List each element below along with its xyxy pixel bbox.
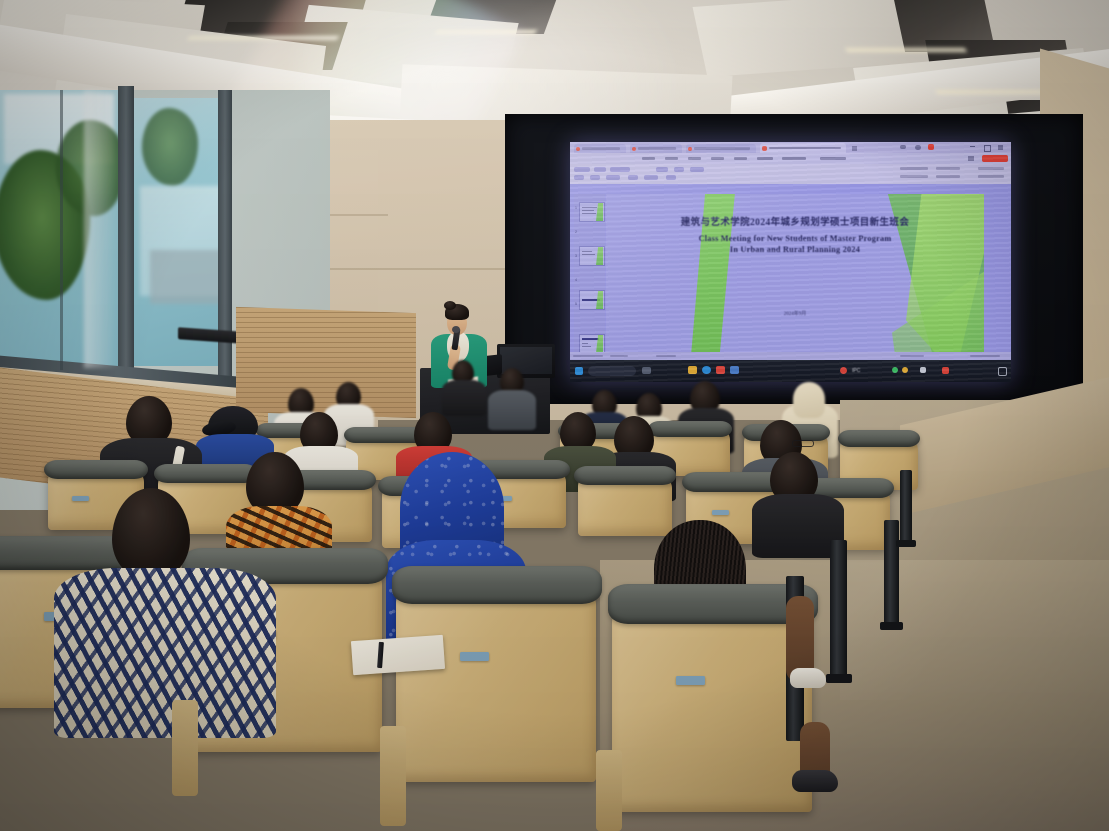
seat-support-leg [884,520,899,628]
ribbon-tab[interactable] [782,157,806,160]
slide-thumbnail[interactable] [579,334,605,354]
tree-outside [142,108,198,186]
tab-favicon [762,146,767,151]
toolbar-button[interactable] [590,175,600,180]
thumbnail-number: 5 [575,302,577,306]
avatar-icon[interactable] [915,145,921,151]
lecture-hall-photo: 1 2 3 4 5 建筑与艺术学院2024年城乡规划学硕士项目新生班会 Clas… [0,0,1109,831]
seat-back [578,476,672,536]
cloud-icon[interactable] [900,145,906,150]
toolbar-button[interactable] [690,167,704,172]
window-maximize-button[interactable] [984,145,991,152]
tray-icon[interactable] [920,367,926,373]
window-minimize-button[interactable] [970,146,975,147]
seat-number-plate [460,652,489,661]
ribbon-tab[interactable] [688,157,701,160]
audience-body [54,568,276,738]
toolbar-button[interactable] [574,175,584,180]
seat-pad [574,466,676,485]
seat-foot [880,622,903,630]
thumbnail-number: 4 [575,278,577,282]
window-mullion [118,86,134,396]
new-tab-button[interactable] [852,146,857,151]
wainscot-center [236,307,416,418]
seat-number-plate [72,496,89,501]
ribbon-tab[interactable] [711,157,724,160]
presenter-hair-bun [444,301,456,310]
browser-icon[interactable] [702,366,711,374]
slide-title-english-line2: In Urban and Rural Planning 2024 [606,244,984,255]
audience-body [442,380,486,416]
seat-pad [154,464,258,483]
slide-title-english: Class Meeting for New Students of Master… [606,233,984,255]
toolbar-button[interactable] [594,167,606,172]
ribbon-tab[interactable] [642,157,655,160]
tray-icon[interactable] [902,367,908,373]
taskview-icon[interactable] [642,367,651,374]
toolbar-button[interactable] [574,167,590,172]
audience-body [488,390,536,430]
home-icon[interactable] [968,156,974,161]
login-button[interactable] [982,155,1008,162]
notifications-icon[interactable] [998,367,1007,376]
toolbar-button[interactable] [666,175,676,180]
toolbar-button[interactable] [610,167,630,172]
seat-number-plate [712,510,729,515]
thumbnail-number: 2 [575,230,577,234]
audience-hijab [793,382,825,418]
seat-number-plate [676,676,705,685]
seat-foot [896,540,916,547]
toolbar-button[interactable] [674,167,684,172]
seat-foot [826,674,852,683]
seat-armrest [380,726,406,826]
audience-head [112,488,190,580]
seat-pad [838,430,920,447]
tray-icon[interactable] [840,367,847,374]
seat-back [612,612,812,812]
slide-thumbnail-pane[interactable]: 1 2 3 4 5 [574,194,605,354]
search-box[interactable] [588,366,636,376]
eyeglasses [792,440,814,447]
toolbar-button[interactable] [656,167,668,172]
notebook-on-seat [351,635,445,675]
slide-title-chinese: 建筑与艺术学院2024年城乡规划学硕士项目新生班会 [606,214,984,228]
tab-favicon [632,147,636,151]
sandal [792,770,838,792]
ribbon-search[interactable] [820,157,846,160]
slide-thumbnail[interactable] [579,246,605,266]
seat-pad [648,421,732,437]
seat-support-leg [900,470,912,544]
ribbon-tab[interactable] [734,157,747,160]
tray-ime-label[interactable]: IPC [852,368,860,374]
windows-taskbar[interactable]: IPC [570,360,1011,382]
curtain-edge [84,90,118,368]
tab-favicon [576,147,580,151]
app-icon[interactable] [730,366,739,374]
toolbar-button[interactable] [606,175,620,180]
status-bar [570,352,1011,360]
seat-armrest [172,700,198,796]
slide-thumbnail[interactable] [579,202,605,222]
seat-back [396,592,596,782]
window-mullion [60,90,63,370]
tab-favicon [688,147,692,151]
slide-date: 2024年9月 [606,310,984,317]
thumbnail-number: 1 [575,206,577,210]
seat-pad [392,566,602,604]
tray-icon[interactable] [892,367,898,373]
explorer-icon[interactable] [688,366,697,374]
seat-pad [44,460,148,479]
start-button[interactable] [575,367,583,375]
building-outside [150,250,222,304]
tray-icon[interactable] [942,367,949,374]
seat-support-leg [830,540,847,680]
toolbar-button[interactable] [628,175,638,180]
shoe [790,668,826,688]
slide-title-english-line1: Class Meeting for New Students of Master… [606,233,984,244]
toolbar-button[interactable] [644,175,658,180]
current-slide[interactable]: 建筑与艺术学院2024年城乡规划学硕士项目新生班会 Class Meeting … [606,194,984,354]
cloud-status-icon[interactable] [928,144,934,150]
seat-armrest [596,750,622,831]
ribbon-tab[interactable] [665,157,678,160]
wps-icon[interactable] [716,366,725,374]
projection-screen[interactable]: 1 2 3 4 5 建筑与艺术学院2024年城乡规划学硕士项目新生班会 Clas… [570,142,1011,382]
ribbon-tab[interactable] [757,157,773,160]
slide-thumbnail[interactable] [579,290,605,310]
microphone-head [452,326,460,333]
thumbnail-number: 3 [575,254,577,258]
window-close-button[interactable] [998,145,1003,150]
